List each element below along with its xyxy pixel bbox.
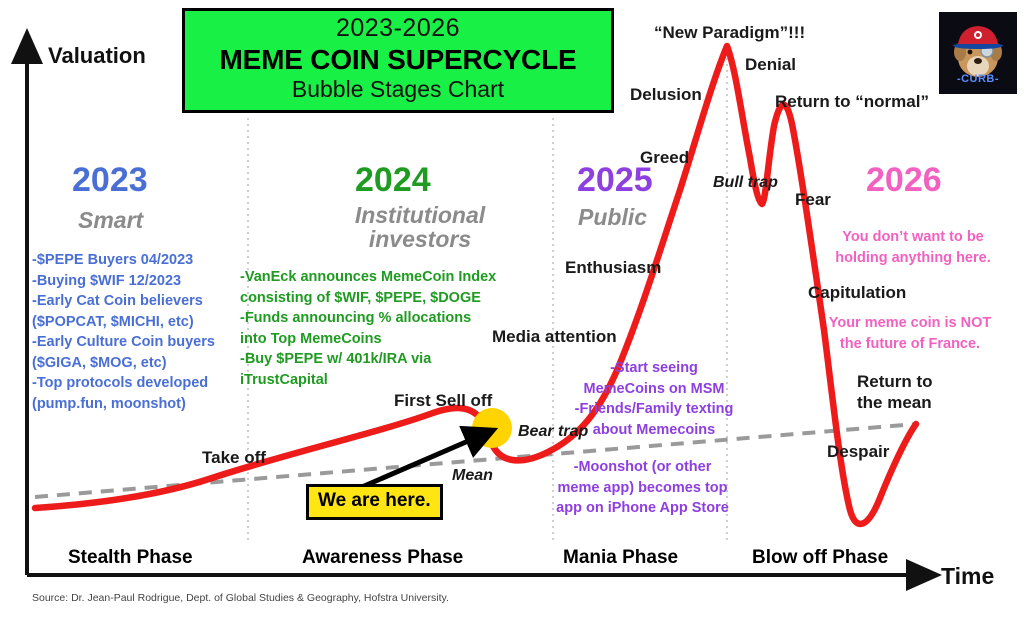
bullet-line: -Early Culture Coin buyers (32, 332, 247, 353)
title-main: MEME COIN SUPERCYCLE (185, 44, 611, 76)
year-subtitle-2024: Institutional investors (325, 203, 515, 251)
label-take-off: Take off (202, 448, 266, 468)
title-subtitle: Bubble Stages Chart (185, 76, 611, 104)
label-capitulation: Capitulation (808, 283, 906, 303)
bullets-2025-lower: -Moonshot (or othermeme app) becomes top… (540, 457, 745, 519)
bullet-line: -Moonshot (or other (540, 457, 745, 478)
label-fear: Fear (795, 190, 831, 210)
bullet-line: (pump.fun, moonshot) (32, 394, 247, 415)
bullet-line: the future of France. (812, 334, 1008, 355)
chart-title-box: 2023-2026 MEME COIN SUPERCYCLE Bubble St… (182, 8, 614, 113)
we-are-here-marker (472, 408, 512, 448)
source-attribution: Source: Dr. Jean-Paul Rodrigue, Dept. of… (32, 592, 449, 604)
curb-avatar-badge: -CURB- (937, 10, 1019, 96)
bullet-line: -Friends/Family texting (548, 399, 760, 420)
x-axis-label: Time (941, 563, 994, 590)
bullet-line: -Buying $WIF 12/2023 (32, 271, 247, 292)
bubble-chart-infographic: 2023-2026 MEME COIN SUPERCYCLE Bubble St… (0, 0, 1024, 621)
label-media-attention: Media attention (492, 327, 617, 347)
we-are-here-callout: We are here. (306, 484, 443, 520)
label-return-to-mean-line2: the mean (857, 393, 933, 414)
bullet-line: -$PEPE Buyers 04/2023 (32, 250, 247, 271)
label-enthusiasm: Enthusiasm (565, 258, 661, 278)
year-heading-2026: 2026 (866, 163, 942, 197)
phase-label-stealth: Stealth Phase (68, 547, 193, 569)
label-bear-trap: Bear trap (518, 423, 588, 441)
bullet-line: ($GIGA, $MOG, etc) (32, 353, 247, 374)
bullet-line: consisting of $WIF, $PEPE, $DOGE (240, 288, 545, 309)
year-heading-2023: 2023 (72, 163, 148, 197)
bullet-line: ($POPCAT, $MICHI, etc) (32, 312, 247, 333)
phase-label-awareness: Awareness Phase (302, 547, 463, 569)
bullet-line: -Top protocols developed (32, 373, 247, 394)
label-mean: Mean (452, 467, 493, 485)
bullets-2026-lower: Your meme coin is NOTthe future of Franc… (812, 313, 1008, 354)
title-years: 2023-2026 (185, 14, 611, 44)
label-delusion: Delusion (630, 85, 702, 105)
label-return-to-normal: Return to “normal” (775, 92, 929, 112)
bullet-line: -Start seeing (548, 358, 760, 379)
phase-label-mania: Mania Phase (563, 547, 678, 569)
avatar-caption: -CURB- (939, 73, 1017, 85)
label-greed: Greed (640, 148, 689, 168)
label-despair: Despair (827, 442, 889, 462)
bullet-line: -Funds announcing % allocations (240, 308, 545, 329)
bullets-2023: -$PEPE Buyers 04/2023-Buying $WIF 12/202… (32, 250, 247, 415)
year-subtitle-2023: Smart (78, 208, 143, 232)
bullet-line: meme app) becomes top (540, 478, 745, 499)
year-heading-2025: 2025 (577, 163, 653, 197)
bullet-line: Your meme coin is NOT (812, 313, 1008, 334)
label-first-sell-off: First Sell off (394, 391, 492, 411)
y-axis-label: Valuation (48, 43, 146, 69)
bullets-2026-upper: You don’t want to beholding anything her… (818, 227, 1008, 268)
label-bull-trap: Bull trap (713, 174, 778, 192)
bullet-line: -Early Cat Coin believers (32, 291, 247, 312)
label-return-to-mean: Return to the mean (857, 372, 933, 413)
phase-label-blowoff: Blow off Phase (752, 547, 888, 569)
label-new-paradigm: “New Paradigm”!!! (654, 23, 805, 43)
bullet-line: holding anything here. (818, 248, 1008, 269)
bullet-line: app on iPhone App Store (540, 498, 745, 519)
bullet-line: MemeCoins on MSM (548, 379, 760, 400)
label-denial: Denial (745, 55, 796, 75)
bullet-line: -VanEck announces MemeCoin Index (240, 267, 545, 288)
label-return-to-mean-line1: Return to (857, 372, 933, 393)
year-subtitle-2025: Public (578, 205, 647, 229)
bullet-line: -Buy $PEPE w/ 401k/IRA via (240, 349, 545, 370)
bullet-line: You don’t want to be (818, 227, 1008, 248)
bullet-line: iTrustCapital (240, 370, 545, 391)
year-heading-2024: 2024 (355, 163, 431, 197)
